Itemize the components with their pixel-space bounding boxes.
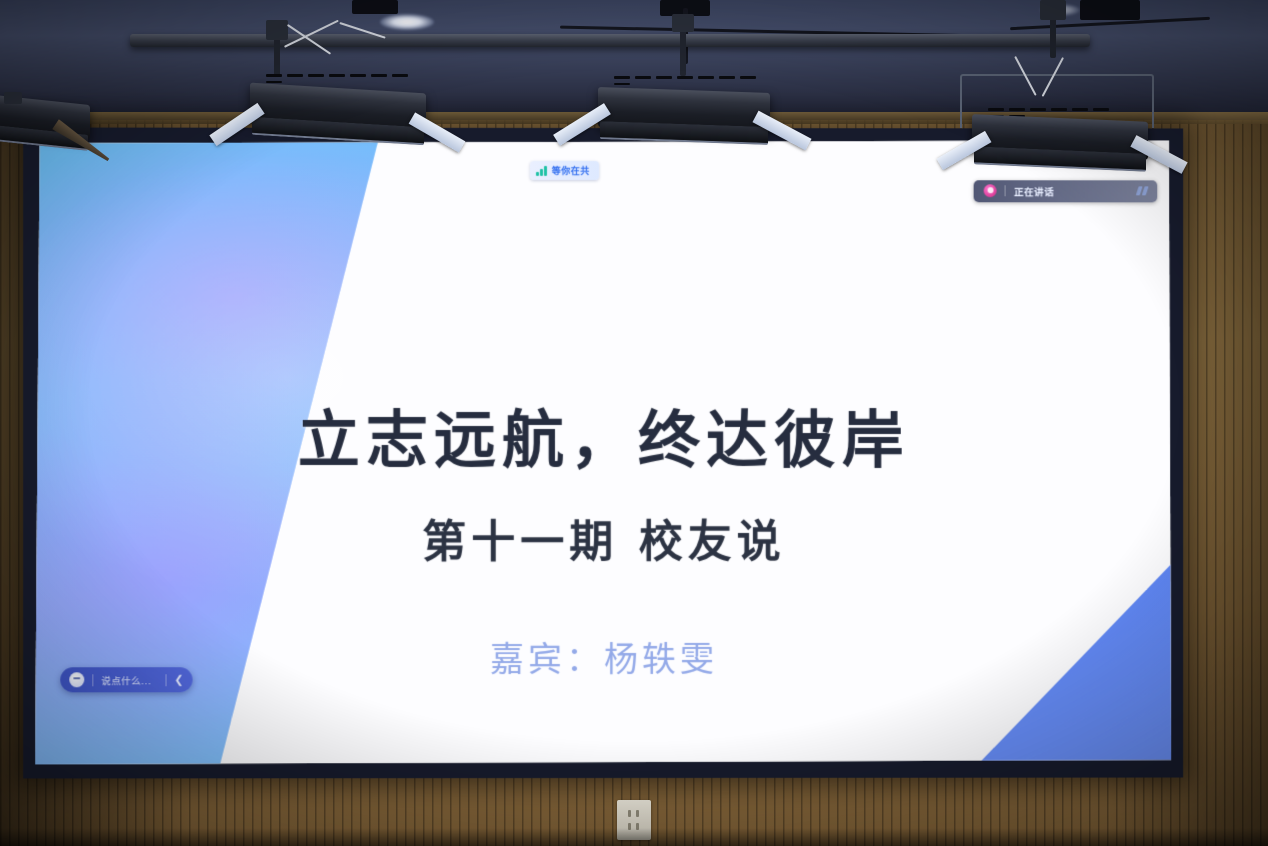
live-status-badge[interactable]: 等你在共 [530,161,599,180]
stage-light-right [944,56,1164,176]
sound-wave-icon [1138,187,1148,196]
stage-light-left [244,64,444,174]
speaking-status-badge[interactable]: 正在讲话 [974,180,1158,202]
fixture-clamp [1040,0,1066,20]
divider [165,674,166,686]
led-screen-surface: 立志远航，终达彼岸 第十一期 校友说 嘉宾：杨轶雯 等你在共 正在讲话 [35,140,1171,765]
chevron-left-icon[interactable]: ❮ [174,674,183,685]
fixture-hanger-rod [680,26,686,76]
fixture-clamp [672,14,694,32]
comment-input-placeholder[interactable]: 说点什么... [101,673,151,687]
floor-shadow [0,828,1268,846]
ceiling-downlight [380,14,434,30]
led-screen-frame: 立志远航，终达彼岸 第十一期 校友说 嘉宾：杨轶雯 等你在共 正在讲话 [23,128,1183,779]
divider [92,674,93,686]
slide-subtitle: 第十一期 校友说 [422,506,785,570]
stage-light-left-edge [0,92,114,172]
live-status-label: 等你在共 [552,164,590,177]
slide-guest-line: 嘉宾：杨轶雯 [490,632,718,681]
slide-title: 立志远航，终达彼岸 [298,390,910,480]
fixture-clamp [4,92,22,104]
smiley-avatar-icon[interactable] [69,673,84,688]
ceiling-mount-box [352,0,398,14]
speaking-status-label: 正在讲话 [1014,184,1054,198]
screenshot-root: 立志远航，终达彼岸 第十一期 校友说 嘉宾：杨轶雯 等你在共 正在讲话 [0,0,1268,846]
divider [1005,186,1006,197]
ceiling-mount-box [1080,0,1140,20]
comment-input-bar[interactable]: 说点什么... ❮ [60,667,192,692]
fixture-clamp [266,20,288,40]
speaker-avatar-icon [984,185,997,198]
slide-text-block: 立志远航，终达彼岸 第十一期 校友说 嘉宾：杨轶雯 [35,140,1171,765]
presentation-slide: 立志远航，终达彼岸 第十一期 校友说 嘉宾：杨轶雯 等你在共 正在讲话 [35,140,1171,765]
stage-light-center [594,66,784,176]
signal-bars-icon [536,166,547,176]
